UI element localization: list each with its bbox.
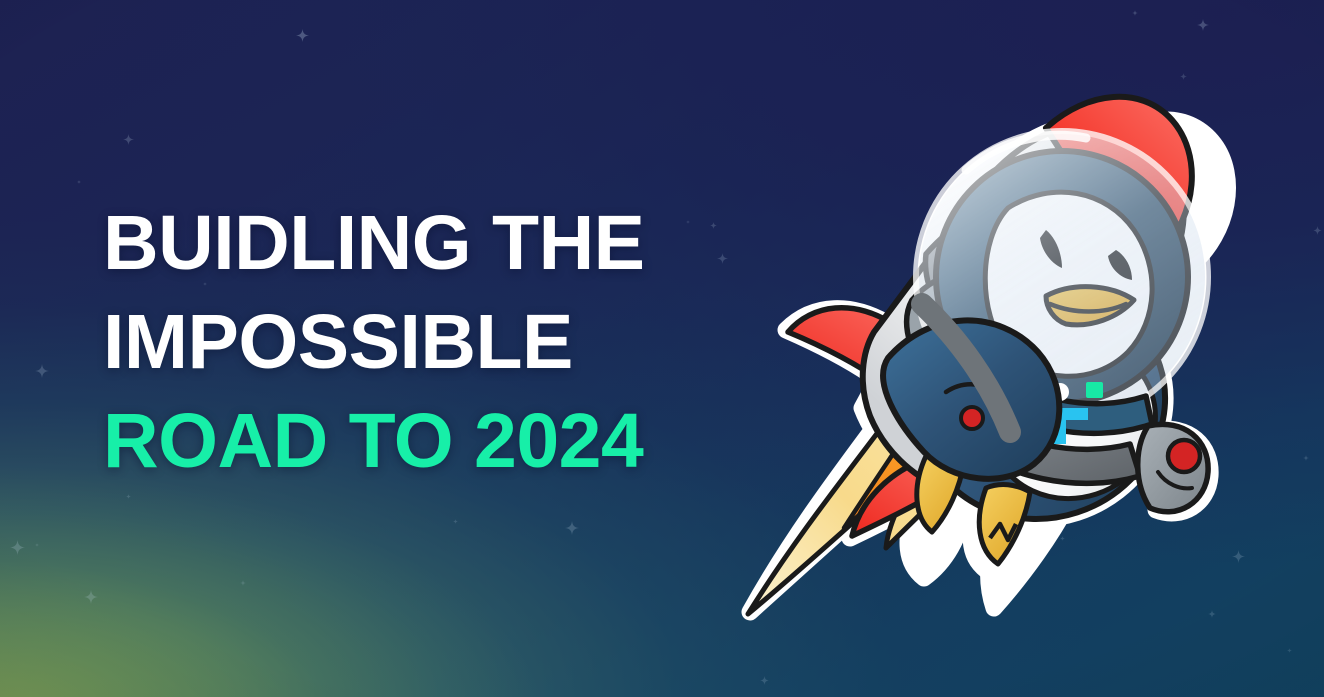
penguin-rocket-illustration	[690, 52, 1270, 652]
star-sparkle-icon	[123, 134, 134, 145]
star-sparkle-icon	[565, 521, 579, 535]
star-sparkle-icon	[1313, 226, 1322, 235]
star-sparkle-icon	[35, 543, 39, 547]
star-sparkle-icon	[77, 180, 81, 184]
star-sparkle-icon	[10, 540, 25, 555]
star-sparkle-icon	[760, 676, 769, 685]
headline-block: BUIDLING THE IMPOSSIBLE ROAD TO 2024	[103, 194, 723, 491]
star-sparkle-icon	[35, 364, 49, 378]
star-sparkle-icon	[1303, 455, 1309, 461]
hero-banner: BUIDLING THE IMPOSSIBLE ROAD TO 2024	[0, 0, 1324, 697]
oxygen-tank-button	[1168, 440, 1200, 472]
star-sparkle-icon	[1197, 19, 1209, 31]
star-sparkle-icon	[296, 29, 309, 42]
headline-line-3: ROAD TO 2024	[103, 392, 723, 491]
star-sparkle-icon	[1132, 10, 1138, 16]
headline-line-2: IMPOSSIBLE	[103, 293, 723, 392]
star-sparkle-icon	[84, 590, 98, 604]
star-sparkle-icon	[453, 519, 458, 524]
star-sparkle-icon	[240, 580, 246, 586]
flipper-tank-button	[961, 407, 983, 429]
star-sparkle-icon	[126, 494, 131, 499]
headline-line-1: BUIDLING THE	[103, 194, 723, 293]
star-sparkle-icon	[1287, 648, 1292, 653]
